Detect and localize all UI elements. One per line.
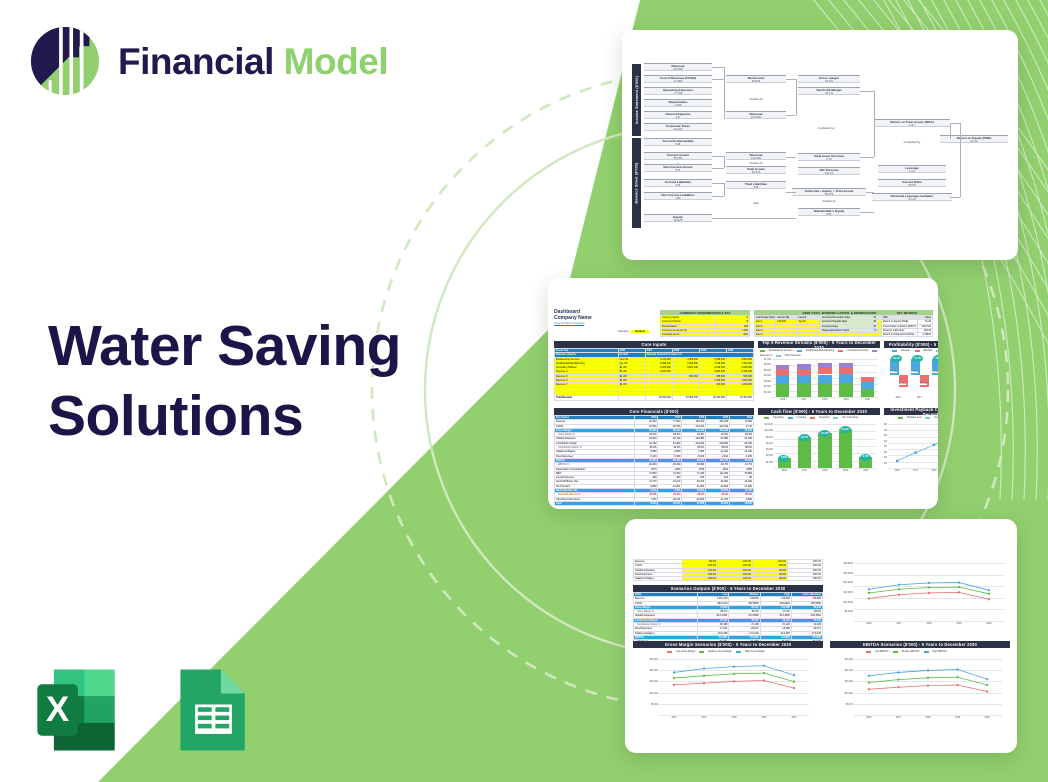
table-row: Cash8,80028,20142,90049,20048,094: [555, 501, 754, 505]
cell: -98.0%: [753, 577, 788, 581]
bar: [839, 429, 852, 468]
dupont-band-income-label: Income Statement ($'000): [635, 76, 639, 124]
dupont-node: A/R Turnover 144.24: [798, 167, 860, 175]
cash-flow-chart: Cash flow ($'000) - 5 Years to December …: [758, 408, 880, 480]
axis-tick-label: $1,000: [756, 392, 771, 394]
legend-item: Operating: [773, 416, 784, 419]
dupont-operator: multiplied by: [806, 126, 846, 130]
node-value: 63.22: [872, 198, 952, 201]
axis-tick-label: $6,000: [756, 364, 771, 366]
node-value: 2.70: [798, 158, 860, 161]
axis-tick-label: ($2,000): [758, 424, 773, 426]
bar-value-label: 27,800: [911, 371, 918, 373]
cell: loan 4: [755, 333, 776, 337]
axis-tick-label: 2029: [840, 399, 852, 401]
dashboard-toc-link[interactable]: Go to the Table of Contents: [554, 322, 654, 325]
cell: Corporate tax %: [661, 333, 716, 337]
axis-tick-label: $30,0000: [838, 563, 853, 565]
axis-tick-label: $6,000: [758, 443, 773, 445]
node-value: 61.03: [940, 140, 1008, 143]
scenario-assumptions-table: Revenue-80.0%-100.0%-120.0%-100.0%COGS-1…: [633, 559, 823, 581]
dupont-node: Net Profit Margin 35.7%: [798, 87, 860, 95]
legend-item: High EBITDA: [933, 650, 947, 653]
chart-title: Profitability ($'000) - 5 Years to Decem…: [884, 341, 938, 348]
chart-title: Investment Payback Chart ($'000) - 5 Yea…: [884, 408, 938, 415]
axis-tick-label: $8,000: [758, 437, 773, 439]
bar-segment: [818, 368, 832, 375]
node-value: 0.97: [874, 124, 950, 127]
node-value: 548: [726, 186, 786, 189]
microsoft-excel-icon[interactable]: X: [30, 664, 122, 756]
chart-legend: Operating Investing Financing Net Cash F…: [764, 416, 858, 419]
scenario-value[interactable]: Medium: [631, 330, 649, 333]
logo-word-model: Model: [284, 41, 388, 82]
cell: 42,900: [682, 501, 706, 505]
axis-tick-label: 2030: [788, 717, 800, 719]
dupont-node: Operating Expenses 17,758: [644, 87, 712, 95]
bar: [818, 433, 831, 468]
bar-segment: [797, 383, 811, 397]
node-value: 58.98: [878, 184, 946, 187]
axis-tick-label: 2027: [892, 717, 904, 719]
axis-tick-label: 2027: [893, 623, 905, 625]
chart-title: Gross Margin Scenarios ($'000) - 5 Years…: [633, 641, 823, 648]
title-line-1: Water Saving: [48, 312, 478, 382]
dupont-node: Gross margin 65.0%: [798, 75, 860, 83]
cell: 28,201: [658, 501, 682, 505]
key-metrics-panel: KEY METRICS NPVValue Return on Equity (R…: [881, 310, 933, 337]
axis-tick-label: $1,000: [758, 462, 773, 464]
dupont-node: Leverage 1.0%: [878, 165, 946, 173]
axis-tick-label: 2028: [728, 717, 740, 719]
cell: Cash: [555, 501, 635, 505]
axis-tick-label: $10,000: [643, 693, 658, 695]
dupont-node: Net Income 48,828: [726, 75, 786, 83]
bar: [798, 437, 811, 468]
axis-tick-label: $45,000: [884, 441, 887, 443]
axis-tick-label: $4,000: [756, 375, 771, 377]
axis-tick-label: $35,000: [884, 446, 887, 448]
cell: 1.19524: [917, 333, 932, 337]
axis-tick-label: $25,000: [884, 452, 887, 454]
node-value: 570: [644, 169, 712, 172]
axis-tick-label: 2027: [698, 717, 710, 719]
cell: Salaries & Wages: [634, 577, 683, 581]
axis-tick-label: 2027: [798, 399, 810, 401]
axis-tick-label: $25,0000: [838, 573, 853, 575]
dupont-node: Return on Total Assets (ROA) 0.97: [874, 119, 950, 127]
axis-tick-label: 2026: [778, 470, 790, 472]
top-5-revenue-streams-chart: Top 5 Revenue Streams ($'000) - 5 Years …: [758, 341, 880, 403]
axis-tick-label: 2026: [863, 717, 875, 719]
legend-item: Bookkeeping Services: [769, 349, 793, 352]
axis-tick-label: $20,000: [838, 670, 853, 672]
axis-tick-label: $15,000: [884, 457, 887, 459]
legend-item: Net Cash Flow: [842, 416, 858, 419]
dupont-node: Current Ratio 58.98: [878, 179, 946, 187]
axis-tick-label: $7,000: [756, 359, 771, 361]
node-value: 1,265: [644, 104, 712, 107]
bar-segment: [818, 363, 832, 368]
axis-tick-label: $20,0000: [838, 582, 853, 584]
google-sheets-icon[interactable]: [162, 664, 254, 756]
axis-tick-label: $5,000: [643, 704, 658, 706]
axis-tick-label: 2028: [922, 717, 934, 719]
dupont-operator: multiplied by: [892, 140, 932, 144]
cell: Internal Rate of Return (IRR) %: [882, 324, 918, 328]
bar-segment: [818, 383, 832, 397]
bar-value-label: 26,400: [890, 371, 897, 373]
axis-tick-label: 2029: [758, 717, 770, 719]
legend-item: Low EBITDA: [875, 650, 889, 653]
chart-legend: Revenue EBITDA EBITDA %: [892, 349, 938, 352]
bar-value-label: -18,560: [898, 383, 906, 385]
node-value: 47,880: [644, 80, 712, 83]
dupont-node: Non Current Assets 570: [644, 164, 712, 172]
bar-segment: [797, 369, 811, 376]
bar-segment: [776, 384, 790, 397]
working-capital-panel: WORKING CAPITAL & DEPRECIATION Accounts …: [820, 310, 878, 333]
cell: 30,100,000: [726, 396, 753, 400]
axis-tick-label: $2,000: [758, 455, 773, 457]
axis-tick-label: $3,000: [756, 381, 771, 383]
bar-segment: [861, 377, 875, 382]
dupont-node: Revenue 136,800: [726, 152, 786, 160]
legend-item: Medium Gross Margin: [708, 650, 732, 653]
axis-tick-label: $10,000: [838, 693, 853, 695]
node-value: 49,628: [644, 219, 712, 222]
axis-tick-label: 2026: [777, 399, 789, 401]
chart-title: EBITDA Scenarios ($'000) - 5 Years to De…: [830, 641, 1010, 648]
bar-segment: [776, 369, 790, 375]
axis-tick-label: 2026: [668, 717, 680, 719]
axis-tick-label: $20,000: [643, 670, 658, 672]
axis-tick-label: 2030: [983, 623, 995, 625]
axis-tick-label: $15,0000: [838, 592, 853, 594]
axis-tick-label: 2027: [799, 470, 811, 472]
dupont-node: Shareholder's Equity 800: [798, 208, 860, 216]
data-label-pill: 56.8%: [933, 355, 938, 362]
axis-tick-label: $10,0000: [838, 602, 853, 604]
chart-title: Cash flow ($'000) - 5 Years to December …: [758, 408, 880, 415]
node-value: 948: [644, 143, 712, 146]
node-value: 50,006: [644, 157, 712, 160]
node-value: 1.0%: [878, 170, 946, 173]
scenario-selector[interactable]: Scenario Medium: [618, 330, 649, 333]
legend-item: High Gross Margin: [745, 650, 765, 653]
legend-item: Low Gross Margin: [676, 650, 695, 653]
dupont-node: Interest Expense 137: [644, 111, 712, 119]
dupont-node: Total Asset Turnover 2.70: [798, 153, 860, 161]
scenarios-outputs-table: Scenarios Outputs ($'000) - 5 Years to D…: [633, 585, 823, 645]
dupont-node: Cost of Revenue (COGS) 47,880: [644, 75, 712, 83]
dupont-node: Total Liabilities 548: [726, 181, 786, 189]
financial-dashboard-card[interactable]: Dashboard Company Name Go to the Table o…: [548, 278, 938, 509]
table-row: Depreciation & Amortisation-1974-1980-27…: [555, 467, 754, 471]
data-label-pill: 30,120: [840, 426, 851, 433]
axis-tick-label: 2028: [923, 623, 935, 625]
cell: Return on Total Assets (ROA): [882, 333, 918, 337]
bar-segment: [797, 375, 811, 383]
axis-tick-label: 2030: [861, 399, 873, 401]
chart-title: Top 5 Revenue Streams ($'000) - 5 Years …: [758, 341, 880, 348]
cell: 48,094: [730, 501, 754, 505]
bar-segment: [839, 363, 853, 368]
bar-segment: [776, 365, 790, 369]
dupont-node: Total Assets 50,576: [726, 166, 786, 174]
dupont-band-balance-label: Balance Sheet ($'000): [635, 162, 639, 203]
axis-tick-label: $65,000: [884, 430, 887, 432]
dupont-node: Current Liabilities 448: [644, 179, 712, 187]
section-title: Scenarios Outputs ($'000) - 5 Years to D…: [633, 585, 823, 592]
node-value: 136,800: [726, 116, 786, 119]
bar-segment: [861, 389, 875, 397]
legend-item: Revenue 4: [760, 354, 772, 357]
axis-tick-label: $25,000: [643, 659, 658, 661]
legend-item: Investing: [797, 416, 807, 419]
dupont-band-balance: Balance Sheet ($'000): [632, 138, 641, 228]
dupont-node: Accounts Receivable 948: [644, 138, 712, 146]
bar-segment: [818, 375, 832, 384]
page-title: Water Saving Solutions: [48, 312, 478, 451]
ebitda-scenarios-chart: EBITDA Scenarios ($'000) - 5 Years to De…: [830, 641, 1010, 733]
node-value: 17,758: [644, 92, 712, 95]
axis-tick-label: 2028: [819, 399, 831, 401]
bar-segment: [839, 374, 853, 383]
dupont-operator: divided by: [736, 161, 776, 165]
axis-tick-label: $2,000: [756, 386, 771, 388]
axis-tick-label: $75,000: [884, 424, 887, 426]
dupont-operator: divided by: [736, 97, 776, 101]
axis-tick-label: 2029: [839, 470, 851, 472]
cell: -105.0%: [683, 577, 718, 581]
axis-tick-label: 2029: [952, 717, 964, 719]
axis-tick-label: $5,000: [756, 370, 771, 372]
table-row: Salaries & Wages-105.0%-100.0%-98.0%-100…: [634, 577, 823, 581]
line-series: [854, 659, 1002, 715]
section-title: Core Financials ($'000): [554, 408, 754, 415]
node-value: 100: [644, 197, 712, 200]
data-label-pill: 8,800: [778, 455, 789, 462]
revenue-scenarios-chart: 20262027202820292030$5,0000$10,0000$15,0…: [830, 559, 1010, 631]
node-value: 136,800: [726, 157, 786, 160]
legend-item: Medium EBITDA: [902, 650, 920, 653]
brand-logo[interactable]: Financial Model: [28, 24, 388, 98]
file-format-icons: X: [30, 664, 254, 756]
axis-tick-label: $15,000: [838, 681, 853, 683]
bar: [920, 375, 929, 387]
investment-payback-chart: Investment Payback Chart ($'000) - 5 Yea…: [884, 408, 938, 480]
dupont-node: Non Current Liabilities 100: [644, 192, 712, 200]
data-label-pill: 57.3%: [912, 355, 923, 362]
svg-text:X: X: [46, 690, 69, 729]
axis-tick-label: 2026: [891, 470, 903, 472]
axis-tick-label: 2027: [910, 470, 922, 472]
node-value: 35.7%: [798, 92, 860, 95]
cell: 26,200,000: [645, 396, 672, 400]
line-series: [854, 563, 1004, 621]
chart-legend: Payback year Cumulative Cash Generated (…: [898, 416, 938, 419]
node-value: 50.576: [792, 193, 866, 196]
cell: -100.0%: [788, 577, 823, 581]
bar-value-label: -19,780: [919, 383, 927, 385]
dupont-analysis-card[interactable]: Income Statement ($'000) Balance Sheet (…: [622, 30, 1018, 260]
cell: Total Revenue: [555, 396, 619, 400]
axis-tick-label: 2030: [981, 717, 993, 719]
logo-wordmark: Financial Model: [118, 43, 388, 80]
legend-item: Other Revenue: [785, 354, 801, 357]
bar-segment: [839, 368, 853, 375]
dupont-node: Total Liab + Equity = Total Assets 50.57…: [792, 188, 866, 196]
node-value: 48,828: [726, 80, 786, 83]
currency-denomination-panel: CURRENCY DENOMINATION & TAX Currency Inp…: [660, 310, 750, 337]
title-line-2: Solutions: [48, 382, 478, 452]
node-value: 800: [798, 213, 860, 216]
node-value: 65.0%: [798, 80, 860, 83]
axis-tick-label: $10,000: [758, 430, 773, 432]
axis-tick-label: 2030: [860, 470, 872, 472]
cell: 29,400,000: [699, 396, 726, 400]
gross-margin-scenarios-chart: Gross Margin Scenarios ($'000) - 5 Years…: [633, 641, 823, 733]
data-label-pill: 8,753: [860, 454, 871, 461]
scenarios-dashboard-card[interactable]: Revenue-80.0%-100.0%-120.0%-100.0%COGS-1…: [625, 519, 1017, 753]
node-value: 448: [644, 184, 712, 187]
panel-title: WORKING CAPITAL & DEPRECIATION: [820, 310, 878, 315]
legend-item: Payback year: [907, 416, 921, 419]
chart-legend: Low EBITDA Medium EBITDA High EBITDA: [866, 650, 947, 653]
logo-word-financial: Financial: [118, 41, 274, 82]
bar-segment: [776, 376, 790, 384]
dupont-band-income: Income Statement ($'000): [632, 64, 641, 136]
legend-item: Consulting Services: [847, 349, 868, 352]
legend-item: Financing: [819, 416, 829, 419]
data-label-pill: 58.4%: [891, 355, 902, 362]
cell: 8,800: [634, 501, 658, 505]
cell: Depreciation/Amort Years: [821, 328, 862, 332]
poster-stage: Financial Model Water Saving Solutions X: [0, 0, 1048, 782]
dashboard-header: Dashboard Company Name Go to the Table o…: [554, 310, 654, 325]
core-financials-table: Core Financials ($'000) Description 2026…: [554, 408, 754, 506]
dupont-operator: divided by: [809, 199, 849, 203]
core-inputs-table: Core Inputs Fiscal Year 2026 2027 2028 2…: [554, 341, 754, 401]
dupont-node: Revenue 136,800: [644, 63, 712, 71]
legend-item: Revenue: [901, 349, 911, 352]
cell: 5: [862, 328, 878, 332]
chart-legend: Low Gross Margin Medium Gross Margin Hig…: [667, 650, 765, 653]
bar-segment: [839, 383, 853, 397]
profitability-chart: Profitability ($'000) - 5 Years to Decem…: [884, 341, 938, 403]
cell: 27,800,000: [672, 396, 699, 400]
dupont-node: Current Assets 50,006: [644, 152, 712, 160]
dupont-node: Financial Leverage multiplier 63.22: [872, 193, 952, 201]
dashboard-title-2: Company Name: [554, 316, 654, 322]
axis-tick-label: $15,000: [643, 681, 658, 683]
axis-tick-label: 2028: [819, 470, 831, 472]
axis-tick-label: 2028: [934, 397, 938, 399]
axis-tick-label: 2026: [863, 623, 875, 625]
axis-tick-label: $5,000: [838, 704, 853, 706]
dupont-operator: Add: [736, 201, 776, 205]
col: Loan/Lease Name: [755, 316, 776, 320]
cell: 30%: [716, 333, 750, 337]
axis-tick-label: 2026: [892, 397, 904, 399]
node-value: 137: [644, 116, 712, 119]
bar: [899, 375, 908, 387]
node-value: 20,926: [644, 128, 712, 131]
cell: -100.0%: [718, 577, 753, 581]
axis-tick-label: $55,000: [884, 435, 887, 437]
axis-tick-label: $25,000: [838, 659, 853, 661]
line-series: [659, 659, 809, 715]
axis-tick-label: 2029: [953, 623, 965, 625]
node-value: 144.24: [798, 172, 860, 175]
node-value: 50,576: [726, 171, 786, 174]
axis-tick-label: 2027: [913, 397, 925, 399]
bar-value-label: 29,400: [932, 371, 938, 373]
financial-model-circle-logo: [28, 24, 102, 98]
scenario-label: Scenario: [618, 330, 628, 333]
line-series: [888, 424, 938, 468]
axis-tick-label: 2028: [928, 470, 938, 472]
cell: 49,200: [706, 501, 730, 505]
axis-tick-label: $5,0000: [838, 611, 853, 613]
node-value: 136,800: [644, 68, 712, 71]
bar-segment: [797, 364, 811, 368]
dupont-node: Corporate Taxes 20,926: [644, 123, 712, 131]
legend-item: EBITDA: [924, 349, 933, 352]
legend-item: Cumulative Cash Generated (Spent): [934, 416, 938, 419]
legend-item: Small Retail Manufacturing: [806, 349, 835, 352]
chart-legend: Bookkeeping Services Small Retail Manufa…: [760, 349, 878, 357]
dupont-node: Equity 49,628: [644, 214, 712, 222]
section-title: Core Inputs: [554, 341, 754, 348]
dupont-tree: Income Statement ($'000) Balance Sheet (…: [632, 62, 1010, 232]
dupont-node: Revenue 136,800: [726, 111, 786, 119]
axis-tick-label: $4,000: [758, 449, 773, 451]
axis-tick-label: $5,000: [884, 463, 887, 465]
bar-segment: [861, 382, 875, 389]
dupont-node: Depreciation 1,265: [644, 99, 712, 107]
